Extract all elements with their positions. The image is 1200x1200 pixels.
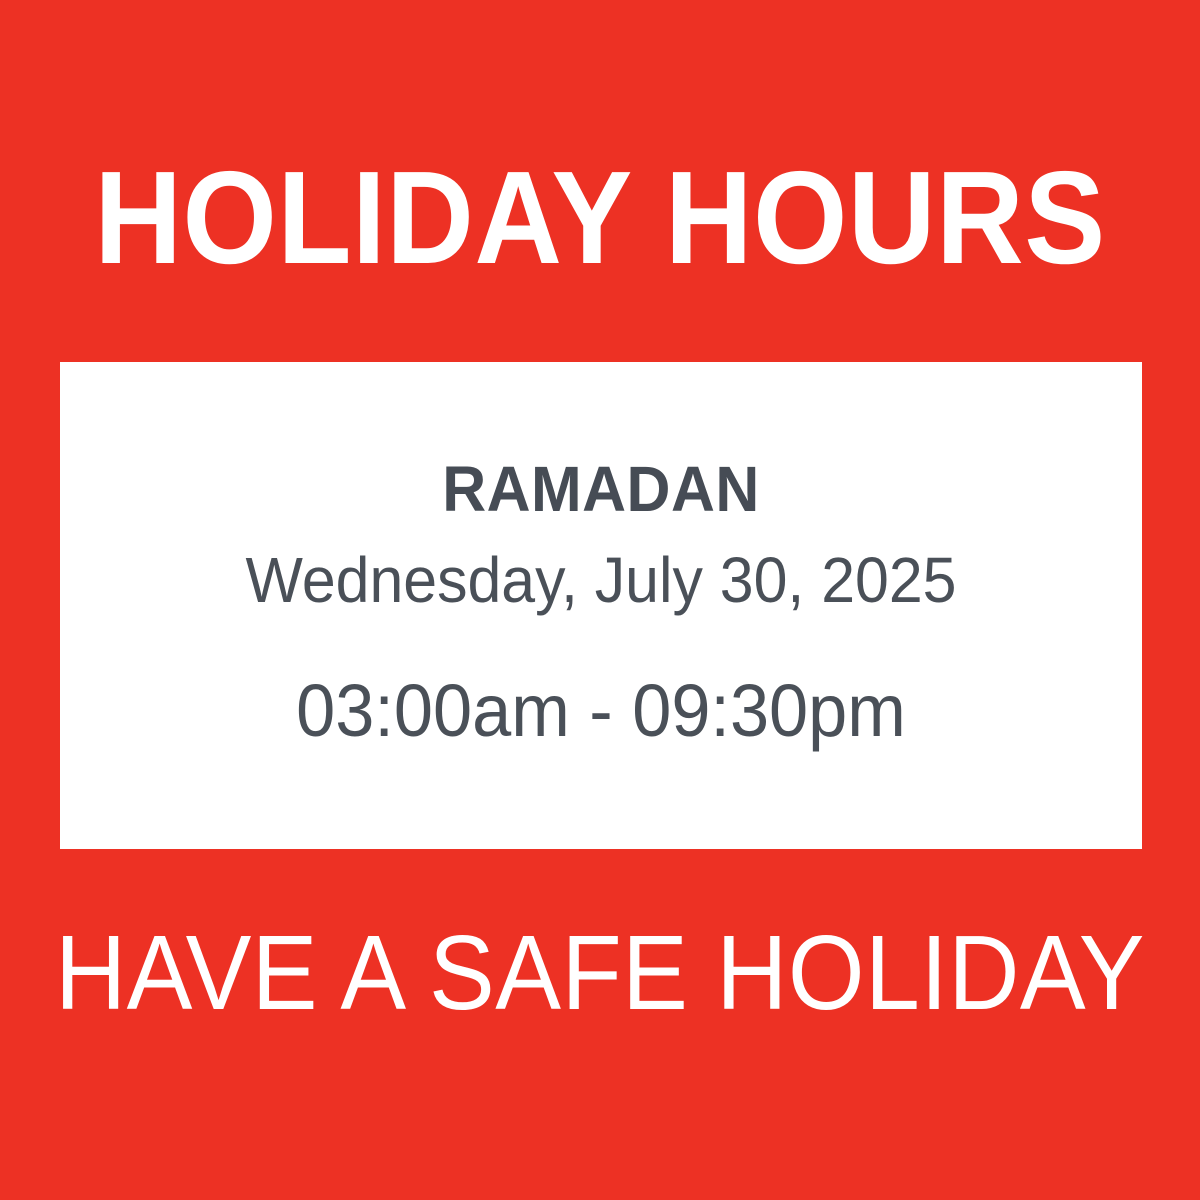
holiday-hours: 03:00am - 09:30pm <box>87 674 1115 748</box>
footer-message: HAVE A SAFE HOLIDAY <box>42 920 1158 1026</box>
page-title: HOLIDAY HOURS <box>48 152 1152 284</box>
holiday-info-content: RAMADAN Wednesday, July 30, 2025 03:00am… <box>60 457 1142 754</box>
holiday-name: RAMADAN <box>87 457 1115 521</box>
holiday-hours-poster: HOLIDAY HOURS RAMADAN Wednesday, July 30… <box>0 0 1200 1200</box>
holiday-date: Wednesday, July 30, 2025 <box>87 548 1115 612</box>
holiday-info-card: RAMADAN Wednesday, July 30, 2025 03:00am… <box>60 362 1142 849</box>
